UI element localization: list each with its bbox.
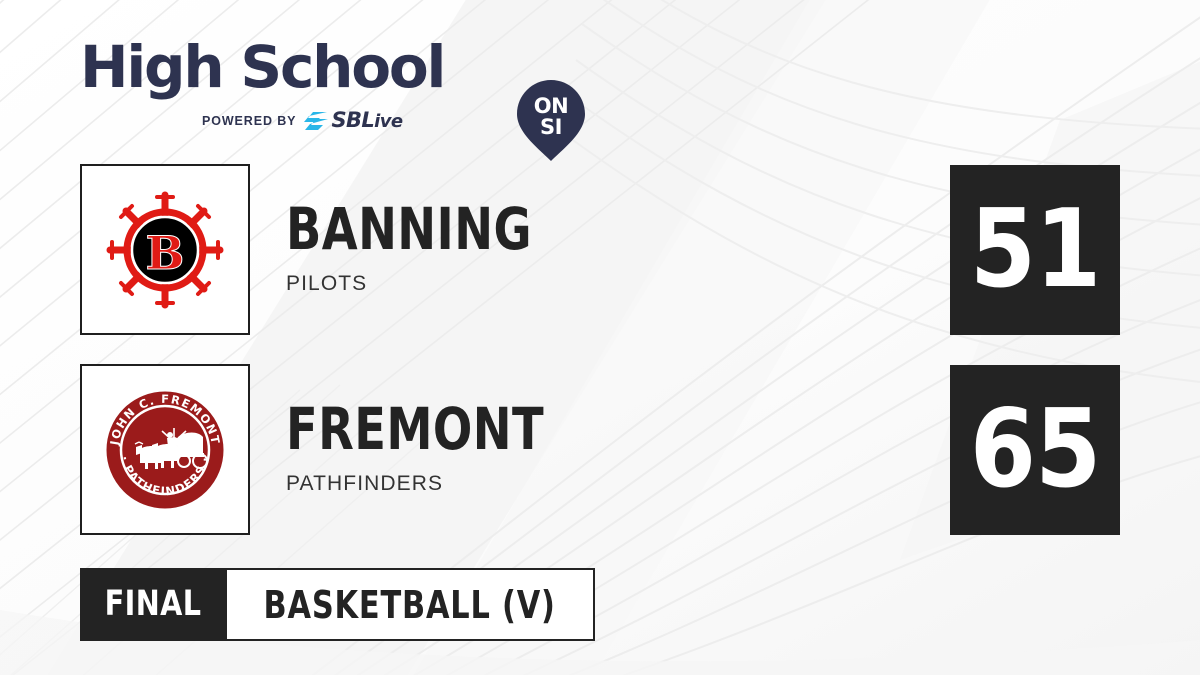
banning-monogram-letter: B bbox=[146, 226, 185, 280]
team-row: · JOHN C. FREMONT · · PATHFINDERS · bbox=[0, 364, 1200, 536]
team-name: BANNING bbox=[286, 200, 782, 258]
sblive-wordmark: SBLive bbox=[331, 110, 402, 132]
sblive-s-mark-icon bbox=[303, 111, 329, 131]
team-name: FREMONT bbox=[286, 400, 782, 458]
team-logo-box: · JOHN C. FREMONT · · PATHFINDERS · bbox=[80, 364, 250, 535]
team-score: 65 bbox=[970, 396, 1101, 504]
status-badge: FINAL bbox=[80, 568, 227, 641]
team-row: B BANNING PILOTS 51 bbox=[0, 164, 1200, 336]
pin-line-2-text: SI bbox=[540, 115, 562, 139]
sport-label: BASKETBALL (V) bbox=[264, 586, 556, 624]
game-status-bar: FINAL BASKETBALL (V) bbox=[80, 568, 595, 641]
team-mascot: PATHFINDERS bbox=[286, 472, 906, 496]
team-score-box: 51 bbox=[950, 165, 1120, 335]
on-si-pin-icon: ON SI bbox=[514, 78, 588, 162]
scoreboard-graphic: High School ON SI POWERED BY SBLive bbox=[0, 0, 1200, 675]
sblive-logo: SBLive bbox=[303, 110, 402, 132]
sblive-word-main: SBL bbox=[331, 108, 374, 132]
fremont-pathfinders-seal-logo: · JOHN C. FREMONT · · PATHFINDERS · bbox=[100, 385, 230, 515]
team-logo-box: B bbox=[80, 164, 250, 335]
banning-pilots-ships-wheel-logo: B bbox=[100, 185, 230, 315]
team-score: 51 bbox=[970, 196, 1101, 304]
status-badge-label: FINAL bbox=[105, 587, 202, 622]
powered-by-label: POWERED BY bbox=[202, 114, 296, 128]
team-score-box: 65 bbox=[950, 365, 1120, 535]
team-identity: FREMONT PATHFINDERS bbox=[286, 400, 906, 496]
brand-header: High School ON SI POWERED BY SBLive bbox=[80, 36, 500, 132]
team-identity: BANNING PILOTS bbox=[286, 200, 906, 296]
brand-wordmark: High School bbox=[80, 36, 444, 98]
sport-label-box: BASKETBALL (V) bbox=[227, 568, 595, 641]
powered-by-lockup: POWERED BY SBLive bbox=[202, 110, 402, 132]
team-mascot: PILOTS bbox=[286, 272, 906, 296]
sblive-word-suffix: ive bbox=[374, 111, 402, 132]
